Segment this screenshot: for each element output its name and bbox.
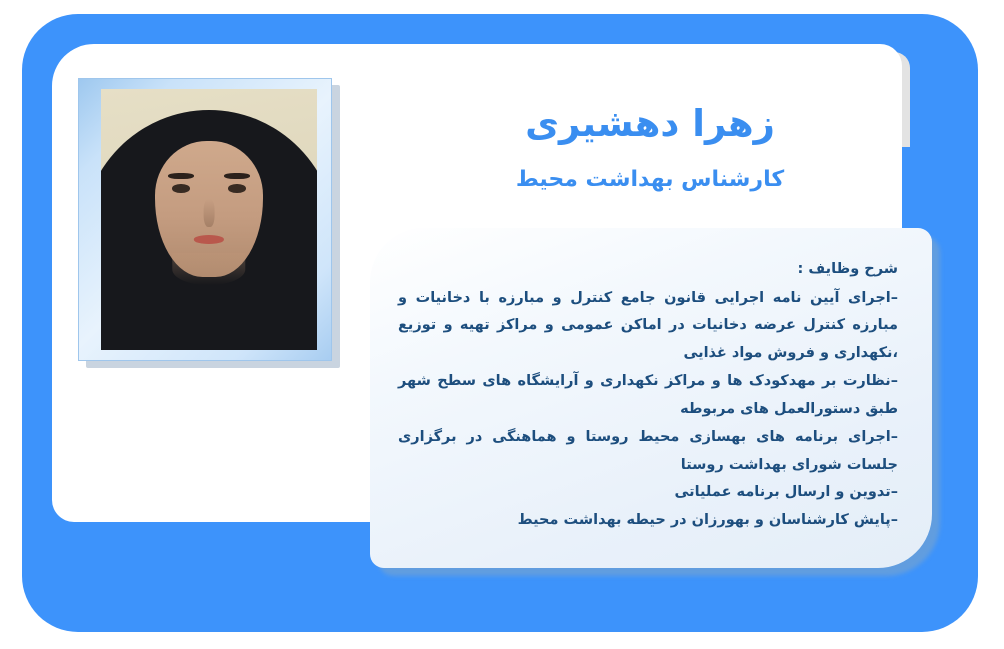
duties-list: –اجرای آیین نامه اجرایی قانون جامع کنترل… bbox=[398, 285, 898, 535]
duty-item: –اجرای برنامه های بهسازی محیط روستا و هم… bbox=[398, 424, 898, 480]
portrait-eye-right bbox=[228, 184, 245, 193]
person-name-title: زهرا دهشیری bbox=[400, 104, 900, 145]
duty-item: –اجرای آیین نامه اجرایی قانون جامع کنترل… bbox=[398, 285, 898, 368]
duty-item: –پایش کارشناسان و بهورزان در حیطه بهداشت… bbox=[398, 507, 898, 535]
person-role-subtitle: کارشناس بهداشت محیط bbox=[400, 168, 900, 192]
duty-item: –تدوین و ارسال برنامه عملیاتی bbox=[398, 479, 898, 507]
photo-frame bbox=[78, 78, 332, 361]
duty-item: –نظارت بر مهدکودک ها و مراکز نکهداری و آ… bbox=[398, 368, 898, 424]
portrait-photo bbox=[101, 89, 317, 350]
slide-canvas: زهرا دهشیری کارشناس بهداشت محیط شرح وظای… bbox=[0, 0, 1004, 649]
portrait-eyebrow-right bbox=[224, 173, 250, 180]
duties-panel: شرح وظایف : –اجرای آیین نامه اجرایی قانو… bbox=[370, 228, 932, 568]
portrait-eyebrow-left bbox=[168, 173, 194, 180]
duties-heading: شرح وظایف : bbox=[398, 256, 898, 284]
portrait-eye-left bbox=[172, 184, 189, 193]
portrait-nose bbox=[204, 199, 215, 228]
